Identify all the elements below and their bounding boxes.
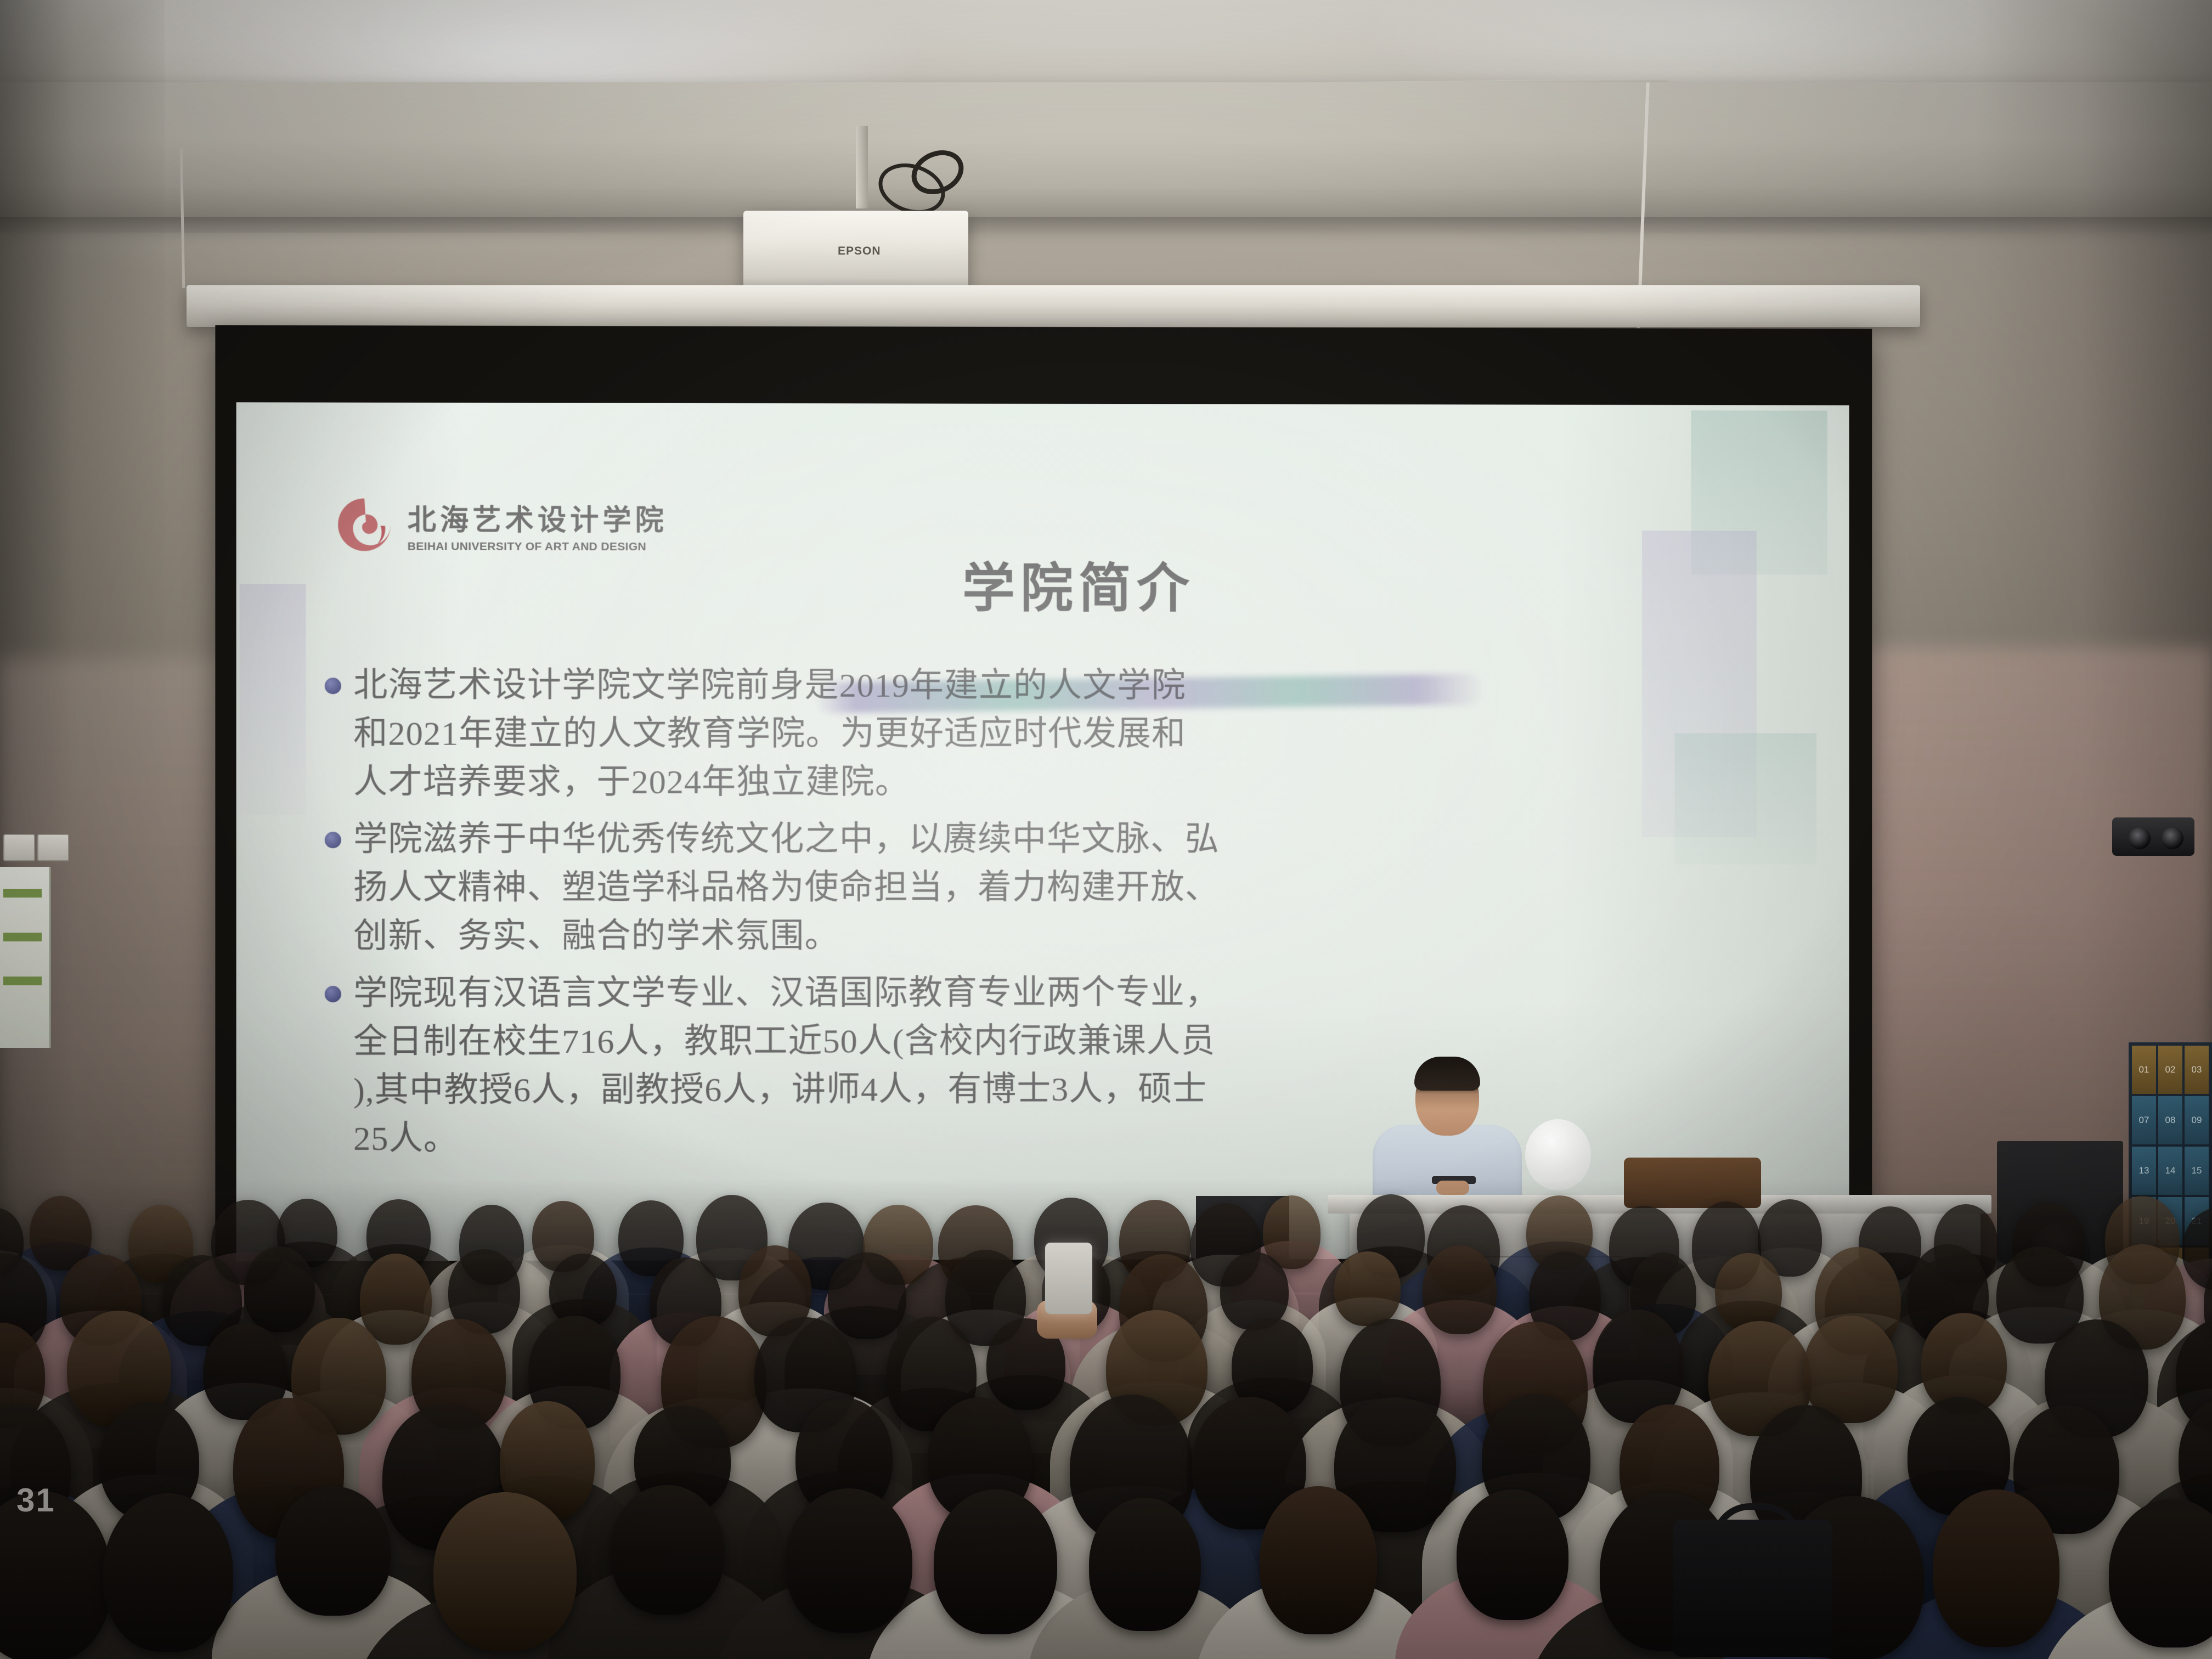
seat-number-cell: 01 xyxy=(2132,1046,2156,1094)
ceiling-beam-edge xyxy=(0,217,2212,233)
notice-strip xyxy=(3,889,42,898)
seat-number-cell: 09 xyxy=(2185,1096,2209,1144)
bullet-text: 学院现有汉语言文学专业、汉语国际教育专业两个专业，全日制在校生716人，教职工近… xyxy=(353,969,1220,1163)
audience-member-head xyxy=(828,1252,906,1339)
audience-member-head xyxy=(1457,1489,1568,1620)
bullet-dot-icon xyxy=(325,832,341,848)
bullet-text: 北海艺术设计学院文学院前身是2019年建立的人文学院和2021年建立的人文教育学… xyxy=(353,661,1186,806)
audience-member-head xyxy=(934,1489,1057,1634)
wall-outlet xyxy=(37,834,69,861)
audience-member-head xyxy=(1260,1486,1376,1634)
screen-roller-case xyxy=(187,285,1920,327)
audience-member-head xyxy=(103,1493,233,1652)
presenter-hair xyxy=(1414,1057,1480,1091)
audience-member-head xyxy=(1715,1253,1782,1330)
lecture-hall-photo: EPSON xyxy=(0,0,2212,1659)
presentation-slide: 北海艺术设计学院 BEIHAI UNIVERSITY OF ART AND DE… xyxy=(236,402,1849,1261)
projection-screen: 北海艺术设计学院 BEIHAI UNIVERSITY OF ART AND DE… xyxy=(215,325,1872,1295)
screen-surface: 北海艺术设计学院 BEIHAI UNIVERSITY OF ART AND DE… xyxy=(236,402,1849,1261)
wall-outlet xyxy=(3,834,35,861)
audience-seating xyxy=(0,1180,2212,1659)
notice-strip xyxy=(3,977,42,985)
wall-notice-board xyxy=(0,867,51,1048)
audience-member-head xyxy=(786,1488,912,1633)
audience-member-head xyxy=(1334,1251,1401,1326)
shirt-number-text: 31 xyxy=(16,1481,55,1519)
audience-member-head xyxy=(275,1486,391,1615)
bullet-dot-icon xyxy=(325,678,341,694)
audience-member-head xyxy=(611,1485,724,1614)
ceiling-beam xyxy=(0,82,2212,225)
audience-member-head xyxy=(1423,1245,1497,1335)
audience-member-head xyxy=(1933,1489,2059,1647)
audience-member-head xyxy=(433,1492,577,1651)
audience-phone xyxy=(1045,1243,1092,1314)
audience-member-head xyxy=(1089,1498,1200,1631)
slide-title: 学院简介 xyxy=(236,544,1849,622)
bullet-dot-icon xyxy=(325,986,341,1002)
seat-number-cell: 02 xyxy=(2158,1046,2182,1094)
logo-chinese-name: 北海艺术设计学院 xyxy=(408,496,668,538)
audience-member-head xyxy=(360,1254,432,1345)
bullet-item: 北海艺术设计学院文学院前身是2019年建立的人文学院和2021年建立的人文教育学… xyxy=(325,661,1784,806)
notice-strip xyxy=(3,933,42,941)
ceiling-projector: EPSON xyxy=(743,211,968,293)
bullet-item: 学院滋养于中华优秀传统文化之中，以赓续中华文脉、弘扬人文精神、塑造学科品格为使命… xyxy=(325,815,1784,961)
seat-number-cell: 08 xyxy=(2158,1096,2182,1144)
camera-lens-icon xyxy=(2129,827,2151,849)
camera-lens-icon-secondary xyxy=(2162,827,2183,849)
projector-brand-label: EPSON xyxy=(838,245,881,258)
seat-number-cell: 03 xyxy=(2185,1046,2209,1094)
slide-bullet-list: 北海艺术设计学院文学院前身是2019年建立的人文学院和2021年建立的人文教育学… xyxy=(325,661,1784,1172)
bullet-text: 学院滋养于中华优秀传统文化之中，以赓续中华文脉、弘扬人文精神、塑造学科品格为使命… xyxy=(353,815,1220,961)
backpack xyxy=(1673,1520,1832,1657)
seat-number-cell: 07 xyxy=(2132,1096,2156,1144)
projector-mount xyxy=(856,126,868,208)
audience-member-head xyxy=(244,1246,315,1331)
